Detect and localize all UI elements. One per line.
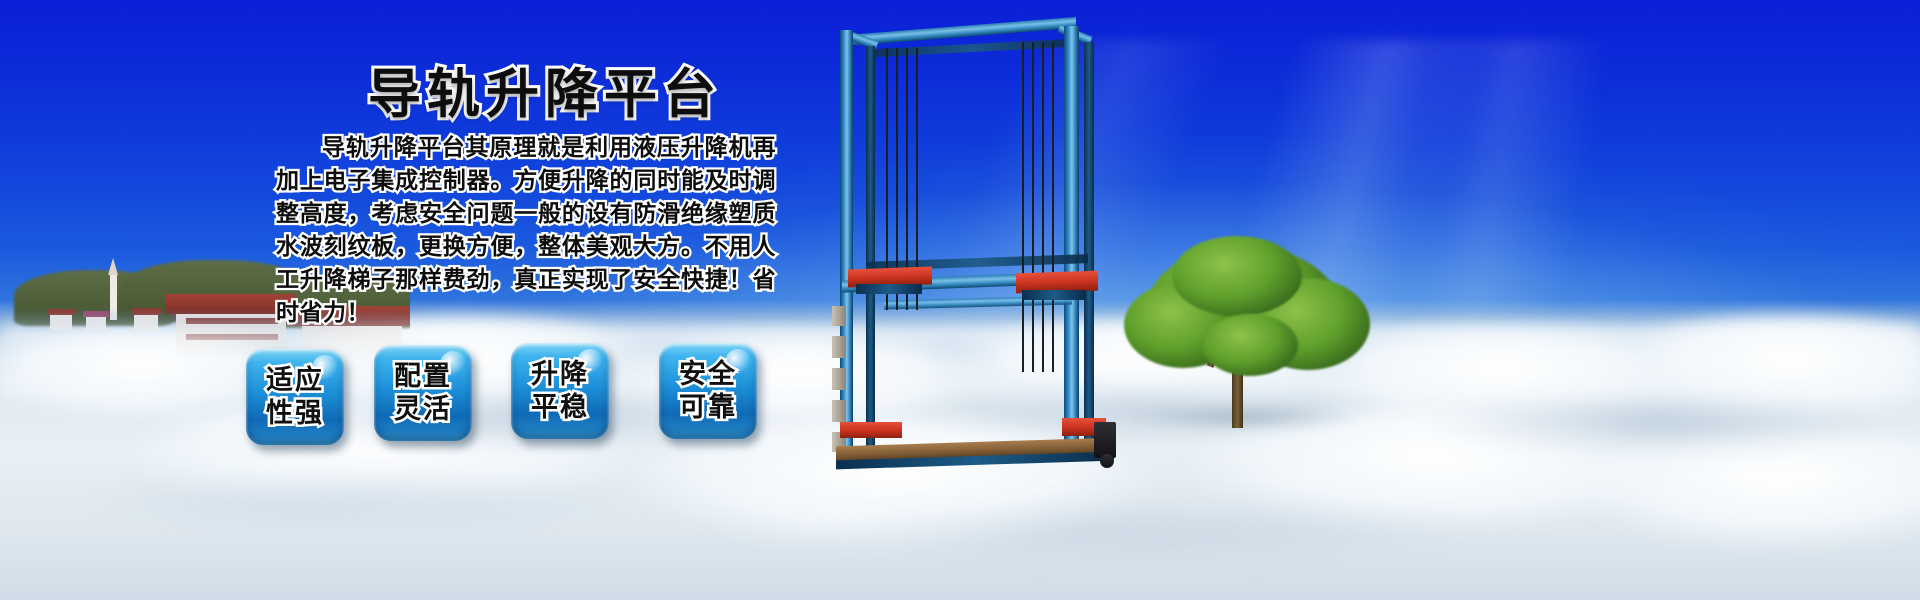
left-carriage-shoe: [856, 284, 922, 294]
feature-button-line2: 可靠: [679, 391, 737, 424]
lift-cable: [1042, 42, 1044, 372]
left-mast-front: [840, 30, 853, 460]
village-roof: [83, 311, 109, 317]
lift-cable: [1052, 42, 1054, 372]
right-mast-rear: [1084, 42, 1094, 452]
guide-rail-lift-platform: [826, 22, 1126, 482]
feature-button-line2: 性强: [266, 397, 324, 430]
base-red-block: [840, 422, 902, 438]
feature-button-adaptability[interactable]: 适应 性强: [246, 349, 344, 445]
church-steeple: [110, 274, 117, 320]
village-roof: [131, 308, 161, 315]
mast-guide-plate: [832, 368, 846, 390]
promotional-banner: 导轨升降平台 导轨升降平台其原理就是利用液压升降机再加上电子集成控制器。方便升降…: [0, 0, 1920, 600]
feature-button-line1: 适应: [266, 364, 324, 397]
right-carriage-shoe: [1022, 290, 1086, 300]
feature-button-line1: 升降: [531, 358, 589, 391]
feature-button-row: 适应 性强 配置 灵活 升降 平稳 安全 可靠: [246, 343, 786, 453]
feature-button-smooth-lifting[interactable]: 升降 平稳: [511, 343, 609, 439]
feature-button-configuration[interactable]: 配置 灵活: [374, 345, 472, 441]
balcony-rail: [186, 334, 278, 340]
cloud-shadow: [800, 500, 1500, 564]
tree-canopy: [1202, 314, 1298, 376]
feature-button-safety[interactable]: 安全 可靠: [659, 343, 757, 439]
description-paragraph: 导轨升降平台其原理就是利用液压升降机再加上电子集成控制器。方便升降的同时能及时调…: [276, 132, 776, 330]
green-tree: [1110, 240, 1380, 420]
balcony-rail: [186, 318, 278, 324]
lift-cable: [1032, 42, 1034, 372]
hydraulic-power-unit: [1094, 422, 1116, 458]
village-house: [86, 316, 106, 330]
mast-guide-plate: [832, 306, 846, 326]
page-title: 导轨升降平台: [368, 52, 722, 128]
caster-wheel: [1100, 454, 1114, 468]
right-mast-front: [1064, 26, 1079, 458]
village-house: [134, 314, 158, 331]
cloud-shadow: [60, 470, 660, 530]
lift-cable: [1022, 42, 1024, 372]
mast-guide-plate: [832, 336, 846, 358]
village-house: [50, 314, 72, 330]
village-roof: [47, 309, 75, 315]
feature-button-line1: 配置: [394, 360, 452, 393]
cloud-shadow: [1420, 398, 1900, 450]
feature-button-line2: 灵活: [394, 393, 452, 426]
feature-button-line2: 平稳: [531, 391, 589, 424]
feature-button-line1: 安全: [679, 358, 737, 391]
mast-guide-plate: [832, 400, 846, 422]
left-mast-rear: [866, 46, 875, 450]
tree-canopy: [1172, 236, 1302, 316]
